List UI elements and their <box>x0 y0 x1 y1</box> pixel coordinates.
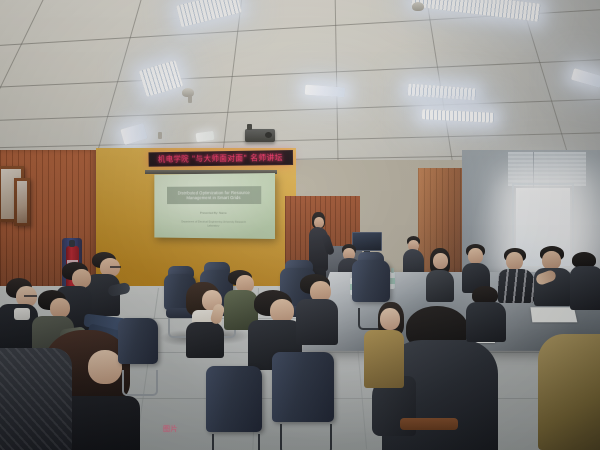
sprinkler-head-icon <box>158 132 162 139</box>
led-banner-text: 机电学院 "与大师面对面" 名师讲坛 <box>158 153 283 164</box>
projection-screen-surface: Distributed Optimization for Resource Ma… <box>154 173 275 239</box>
chair-base <box>280 424 332 450</box>
person-torso <box>364 330 404 388</box>
slide-title: Distributed Optimization for Resource Ma… <box>167 190 261 201</box>
presenter-monitor <box>352 232 382 251</box>
person-torso <box>296 299 338 345</box>
projection-screen: Distributed Optimization for Resource Ma… <box>154 173 275 239</box>
chair-backrest <box>352 260 390 302</box>
photo-watermark: 图片 <box>163 424 178 434</box>
framed-picture <box>14 178 30 226</box>
person-head <box>433 253 448 269</box>
person-head <box>50 298 70 318</box>
ceiling-light-fixture <box>305 85 346 98</box>
slide-subtitle: Presented By: Name <box>180 211 248 215</box>
sprinkler-head-icon <box>188 96 192 103</box>
slide-affiliation: Department of Electrical Engineering Uni… <box>176 220 251 228</box>
chair-backrest <box>272 352 334 422</box>
ceiling-light-fixture <box>195 131 214 142</box>
suspended-ceiling <box>0 0 600 172</box>
ceiling-projector <box>245 129 275 142</box>
led-banner: 机电学院 "与大师面对面" 名师讲坛 <box>149 150 294 167</box>
chair-base <box>122 370 158 396</box>
conference-room-photo: 机电学院 "与大师面对面" 名师讲坛 Distributed Optimizat… <box>0 0 600 450</box>
ceiling-shadow-gradient <box>350 0 600 172</box>
smoke-detector-icon <box>412 2 424 11</box>
ceiling-grid-line <box>209 0 247 172</box>
person-torso <box>426 270 454 302</box>
person-head <box>506 252 523 270</box>
person-torso <box>186 322 224 358</box>
paper-sheet <box>530 307 577 322</box>
projector-light-glow <box>154 173 275 239</box>
person-torso <box>466 302 506 342</box>
ceiling-light-fixture <box>120 123 147 145</box>
chair-base <box>212 434 260 450</box>
person-head <box>468 248 483 264</box>
chair-backrest <box>206 366 262 432</box>
ceiling-light-fixture <box>176 0 241 27</box>
person-torso <box>0 348 72 450</box>
person-torso <box>498 269 534 303</box>
chair-armrest <box>400 418 458 430</box>
person-collar <box>14 308 30 320</box>
person-head <box>88 350 122 384</box>
eyeglasses <box>24 295 37 297</box>
slide-title-bar: Distributed Optimization for Resource Ma… <box>167 186 261 204</box>
person-torso <box>570 266 600 310</box>
picture-artwork <box>17 181 27 223</box>
person-head <box>380 308 400 330</box>
chair-backrest <box>118 318 158 364</box>
ceiling-grid-line <box>69 0 153 172</box>
eyeglasses <box>110 266 121 268</box>
person-torso <box>538 334 600 450</box>
ceiling-light-fixture <box>139 60 183 97</box>
